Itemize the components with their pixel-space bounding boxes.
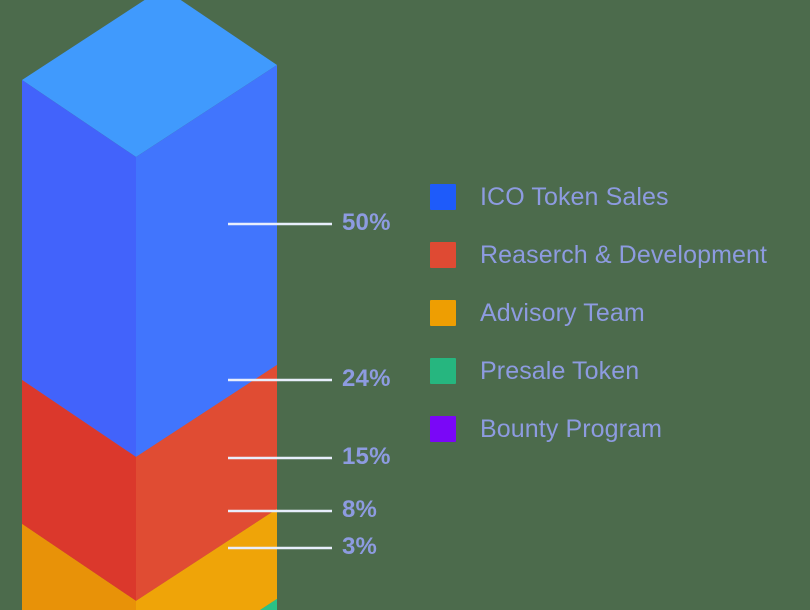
percentage-label-2: 24% bbox=[342, 365, 391, 393]
legend-item-label: Presale Token bbox=[480, 357, 639, 386]
percentage-label-5: 3% bbox=[342, 533, 377, 561]
legend-item-4[interactable]: Presale Token bbox=[430, 342, 802, 400]
legend-item-label: Advisory Team bbox=[480, 299, 645, 328]
chart-blocks bbox=[22, 0, 277, 610]
legend-item-label: Bounty Program bbox=[480, 415, 662, 444]
legend-swatch-icon bbox=[430, 184, 456, 210]
chart-stage: ICO Token SalesReaserch & DevelopmentAdv… bbox=[0, 0, 810, 610]
legend-item-label: ICO Token Sales bbox=[480, 183, 669, 212]
chart-legend: ICO Token SalesReaserch & DevelopmentAdv… bbox=[430, 168, 802, 458]
legend-item-1[interactable]: ICO Token Sales bbox=[430, 168, 802, 226]
percentage-label-1: 50% bbox=[342, 209, 391, 237]
legend-item-5[interactable]: Bounty Program bbox=[430, 400, 802, 458]
legend-swatch-icon bbox=[430, 242, 456, 268]
stack-block-1 bbox=[22, 0, 277, 457]
legend-item-label: Reaserch & Development bbox=[480, 241, 767, 270]
legend-item-3[interactable]: Advisory Team bbox=[430, 284, 802, 342]
legend-swatch-icon bbox=[430, 416, 456, 442]
legend-swatch-icon bbox=[430, 358, 456, 384]
percentage-label-3: 15% bbox=[342, 443, 391, 471]
legend-item-2[interactable]: Reaserch & Development bbox=[430, 226, 802, 284]
percentage-label-4: 8% bbox=[342, 496, 377, 524]
legend-swatch-icon bbox=[430, 300, 456, 326]
